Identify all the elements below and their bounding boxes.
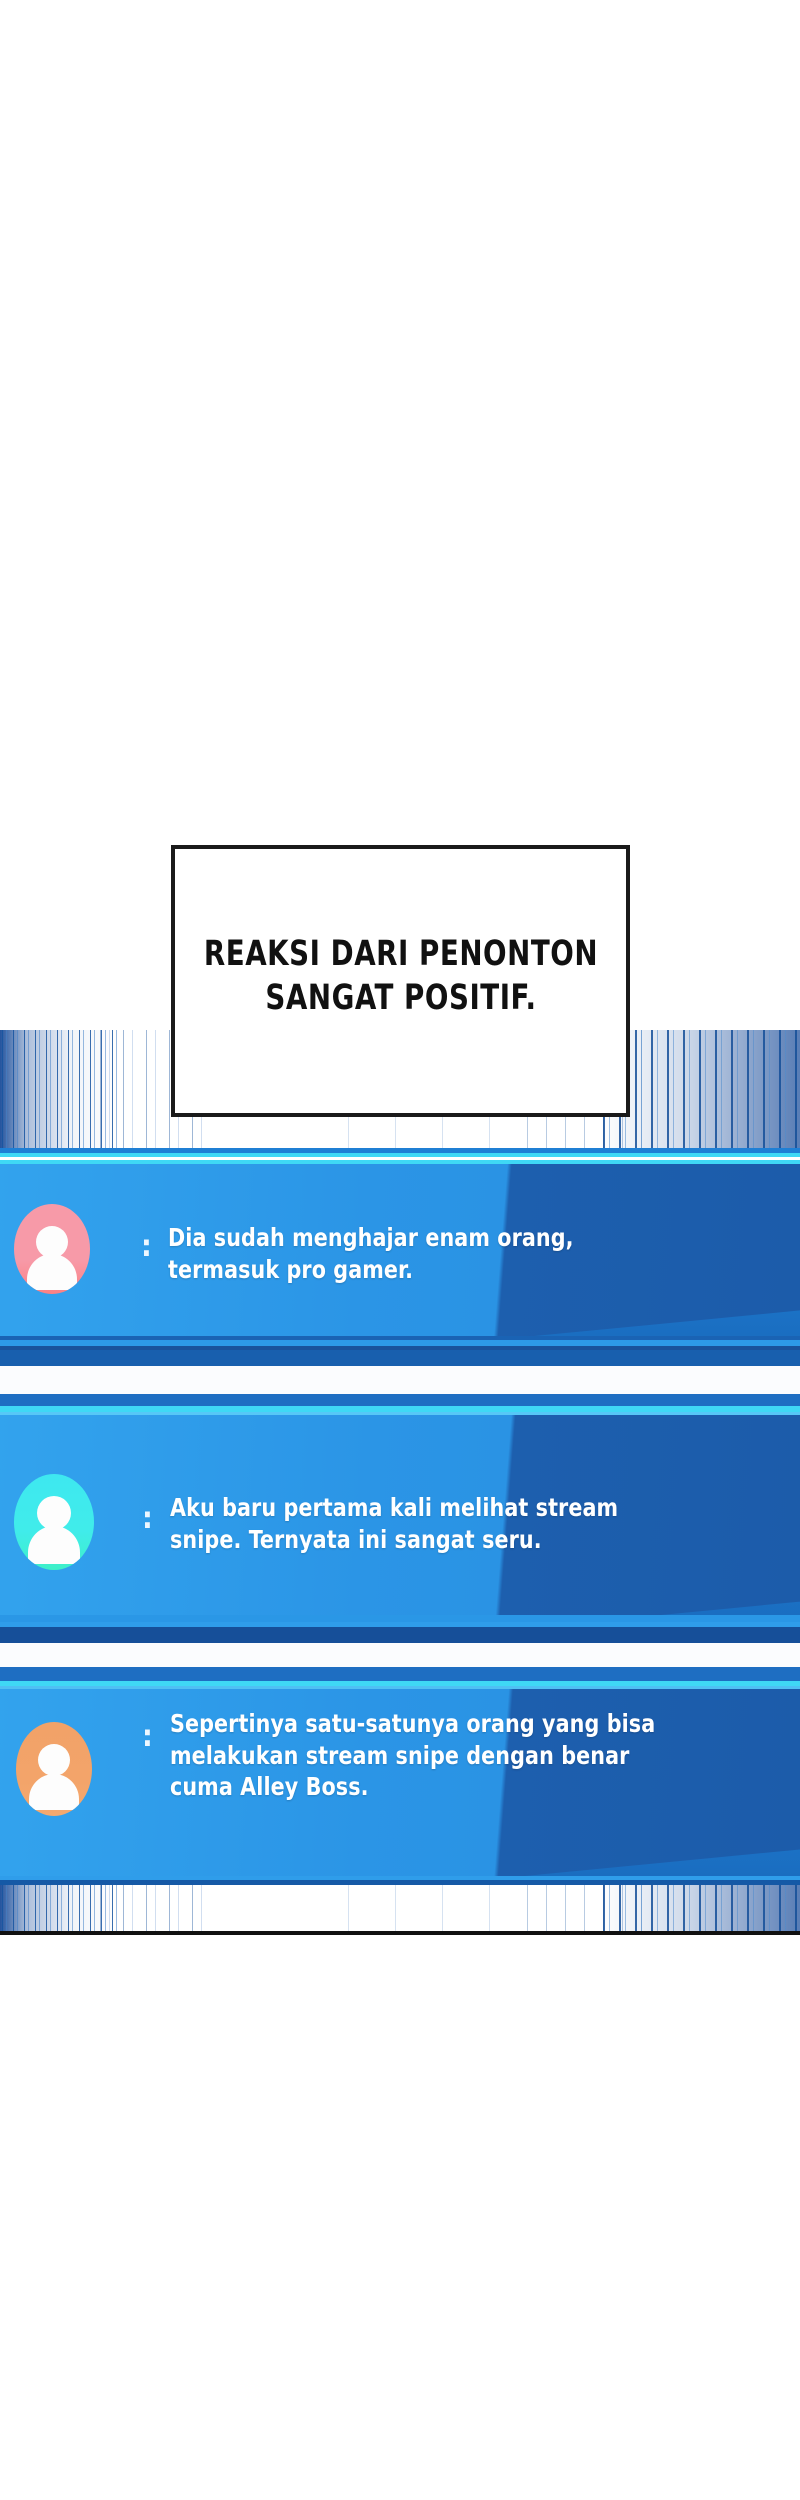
glitch-streak-zone-bottom	[0, 1885, 800, 1935]
gap-white-band	[0, 1366, 800, 1394]
panel-bottom-divider	[0, 1931, 800, 1935]
user-avatar-body-icon	[27, 1254, 77, 1290]
narration-caption-box: REAKSI DARI PENONTON SANGAT POSITIF.	[171, 845, 630, 1117]
bubble-3-top-rail	[0, 1686, 800, 1689]
stream-chat-panel: : Dia sudah menghajar enam orang, termas…	[0, 1030, 800, 1935]
comment-bubble-1[interactable]: : Dia sudah menghajar enam orang, termas…	[0, 1160, 800, 1340]
comment-line: cuma Alley Boss.	[170, 1771, 655, 1803]
comment-line: snipe. Ternyata ini sangat seru.	[170, 1524, 618, 1556]
bubble-2-bottom-rail	[0, 1615, 800, 1622]
comment-body: Sepertinya satu-satunya orang yang bisa …	[170, 1708, 655, 1803]
narration-text: REAKSI DARI PENONTON SANGAT POSITIF.	[203, 932, 597, 1030]
comment-body: Aku baru pertama kali melihat stream sni…	[170, 1492, 618, 1555]
comment-line: Sepertinya satu-satunya orang yang bisa	[170, 1708, 655, 1740]
comment-separator: :	[142, 1722, 153, 1752]
comment-line: termasuk pro gamer.	[168, 1254, 574, 1286]
gap-rail-b3	[0, 1350, 800, 1366]
avatar	[14, 1204, 90, 1294]
comment-separator: :	[141, 1232, 152, 1262]
narration-line-2: SANGAT POSITIF.	[203, 976, 597, 1020]
comic-page: : Dia sudah menghajar enam orang, termas…	[0, 0, 800, 2500]
gap2-white-band	[0, 1643, 800, 1667]
comment-body: Dia sudah menghajar enam orang, termasuk…	[168, 1222, 574, 1285]
bubble-1-top-rail	[0, 1160, 800, 1164]
avatar	[16, 1722, 92, 1816]
bubble-2-top-rail	[0, 1412, 800, 1415]
user-avatar-body-icon	[28, 1526, 80, 1564]
gap-rail-b4	[0, 1394, 800, 1406]
comment-separator: :	[142, 1504, 153, 1534]
glitch-streaks-middle-bottom	[330, 1885, 490, 1935]
user-avatar-body-icon	[29, 1774, 79, 1810]
comment-bubble-3[interactable]: : Sepertinya satu-satunya orang yang bis…	[0, 1686, 800, 1876]
narration-line-1: REAKSI DARI PENONTON	[203, 932, 597, 976]
user-avatar-icon	[38, 1744, 70, 1776]
avatar	[14, 1474, 94, 1570]
bubble-1-bottom-rail	[0, 1336, 800, 1340]
comment-line: melakukan stream snipe dengan benar	[170, 1740, 655, 1772]
comment-bubble-2[interactable]: : Aku baru pertama kali melihat stream s…	[0, 1412, 800, 1622]
gap2-rail-c2	[0, 1627, 800, 1643]
gap2-rail-c3	[0, 1667, 800, 1681]
comment-line: Aku baru pertama kali melihat stream	[170, 1492, 618, 1524]
comment-line: Dia sudah menghajar enam orang,	[168, 1222, 574, 1254]
user-avatar-icon	[37, 1496, 71, 1530]
glitch-streaks-right-bottom	[600, 1885, 800, 1935]
glitch-streaks-right	[600, 1030, 800, 1148]
glitch-streaks-left-mid-bottom	[95, 1885, 215, 1935]
